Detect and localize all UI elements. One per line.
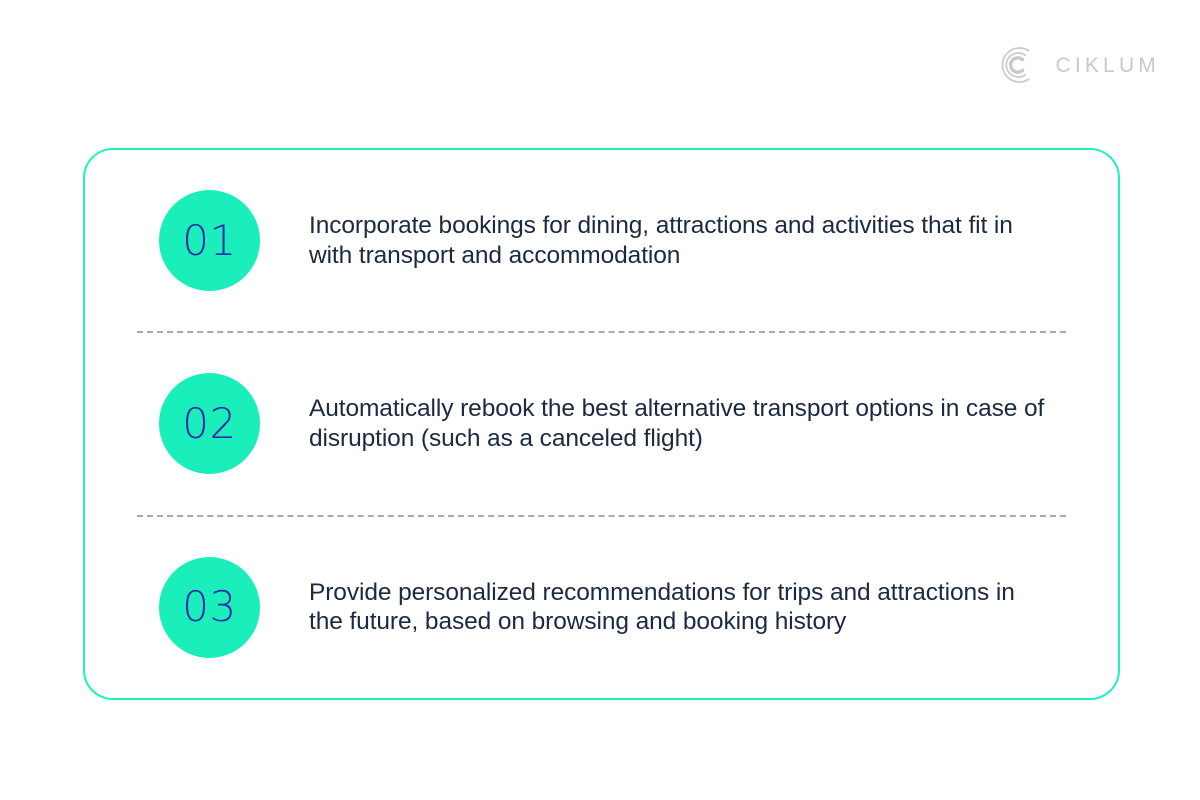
numbered-list: 01 Incorporate bookings for dining, attr… <box>85 150 1118 698</box>
list-item: 03 Provide personalized recommendations … <box>85 517 1118 698</box>
ciklum-concentric-c-logo-icon <box>997 44 1039 86</box>
item-description: Automatically rebook the best alternativ… <box>309 394 1054 453</box>
item-description: Incorporate bookings for dining, attract… <box>309 211 1054 270</box>
brand-header: CIKLUM <box>997 43 1160 87</box>
list-item: 01 Incorporate bookings for dining, attr… <box>85 150 1118 331</box>
item-description: Provide personalized recommendations for… <box>309 578 1054 637</box>
item-number-badge: 02 <box>159 373 260 474</box>
numbered-list-card: 01 Incorporate bookings for dining, attr… <box>83 148 1120 700</box>
item-number-badge: 01 <box>159 190 260 291</box>
list-item: 02 Automatically rebook the best alterna… <box>85 333 1118 514</box>
brand-wordmark: CIKLUM <box>1055 55 1160 76</box>
item-number-badge: 03 <box>159 557 260 658</box>
